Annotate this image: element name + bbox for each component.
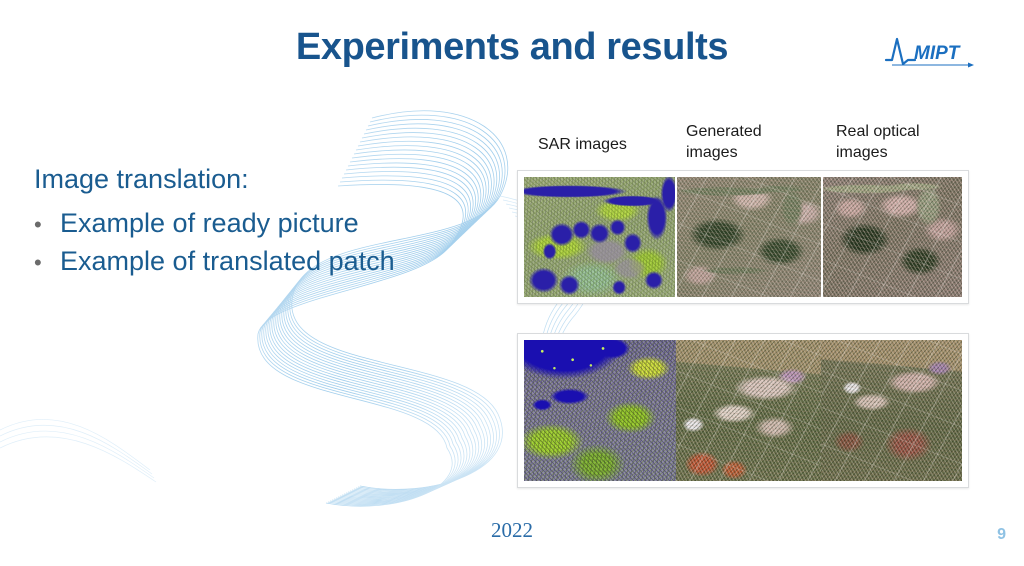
column-header-generated-images: Generated images: [686, 122, 806, 164]
bullet-label: Example of ready picture: [60, 209, 359, 237]
mipt-logo-text: MIPT: [914, 43, 961, 64]
column-header-real-optical-images: Real optical images: [836, 122, 966, 164]
column-header-sar-images: SAR images: [538, 135, 658, 156]
page-number: 9: [997, 526, 1006, 544]
figure-tile-sar-translated-patch: [524, 340, 676, 481]
figure-tile-generated-translated-patch: [676, 340, 821, 481]
waveform-peak-icon: [886, 39, 915, 64]
slide-title: Experiments and results: [0, 26, 1024, 69]
figure-tile-generated-ready-picture: [677, 177, 822, 297]
bullet-label: Example of translated patch: [60, 247, 395, 275]
figure-row-ready-picture: [517, 170, 969, 304]
bullet-marker-icon: •: [34, 252, 60, 274]
mipt-logo: MIPT: [884, 34, 980, 72]
body-lead: Image translation:: [34, 166, 504, 193]
figure-tile-real-optical-translated-patch: [821, 340, 962, 481]
figure-tile-real-optical-ready-picture: [823, 177, 961, 297]
list-item: • Example of translated patch: [34, 247, 504, 275]
list-item: • Example of ready picture: [34, 209, 504, 237]
bullet-marker-icon: •: [34, 214, 60, 236]
body-text-block: Image translation: • Example of ready pi…: [34, 166, 504, 286]
slide: Experiments and results MIPT Image trans…: [0, 0, 1024, 566]
figure-tile-sar-ready-picture: [524, 177, 675, 297]
footer-year: 2022: [0, 518, 1024, 543]
figure-row-translated-patch: [517, 333, 969, 488]
